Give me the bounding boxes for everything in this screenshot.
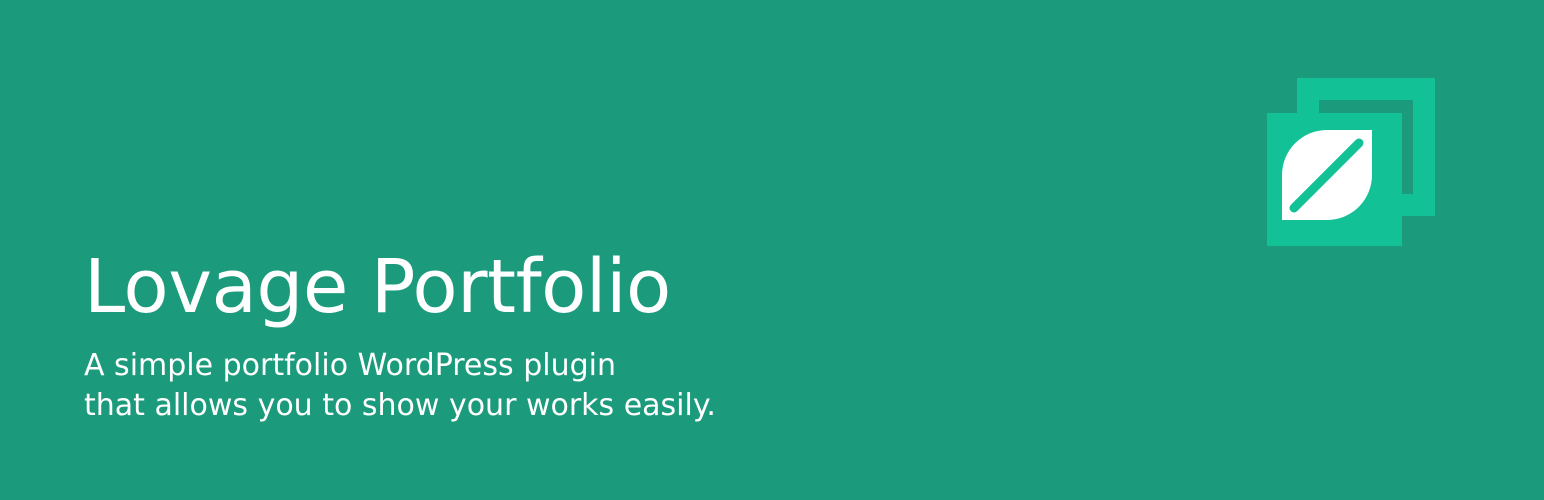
tagline-line-2: that allows you to show your works easil…: [84, 386, 716, 426]
lovage-leaf-logo-icon: [1258, 68, 1446, 256]
plugin-tagline: A simple portfolio WordPress plugin that…: [84, 330, 716, 426]
logo-svg: [1258, 68, 1446, 256]
tagline-line-1: A simple portfolio WordPress plugin: [84, 346, 716, 386]
banner-text-block: Lovage Portfolio A simple portfolio Word…: [84, 244, 716, 426]
plugin-banner: Lovage Portfolio A simple portfolio Word…: [0, 0, 1544, 500]
page-title: Lovage Portfolio: [84, 244, 716, 330]
